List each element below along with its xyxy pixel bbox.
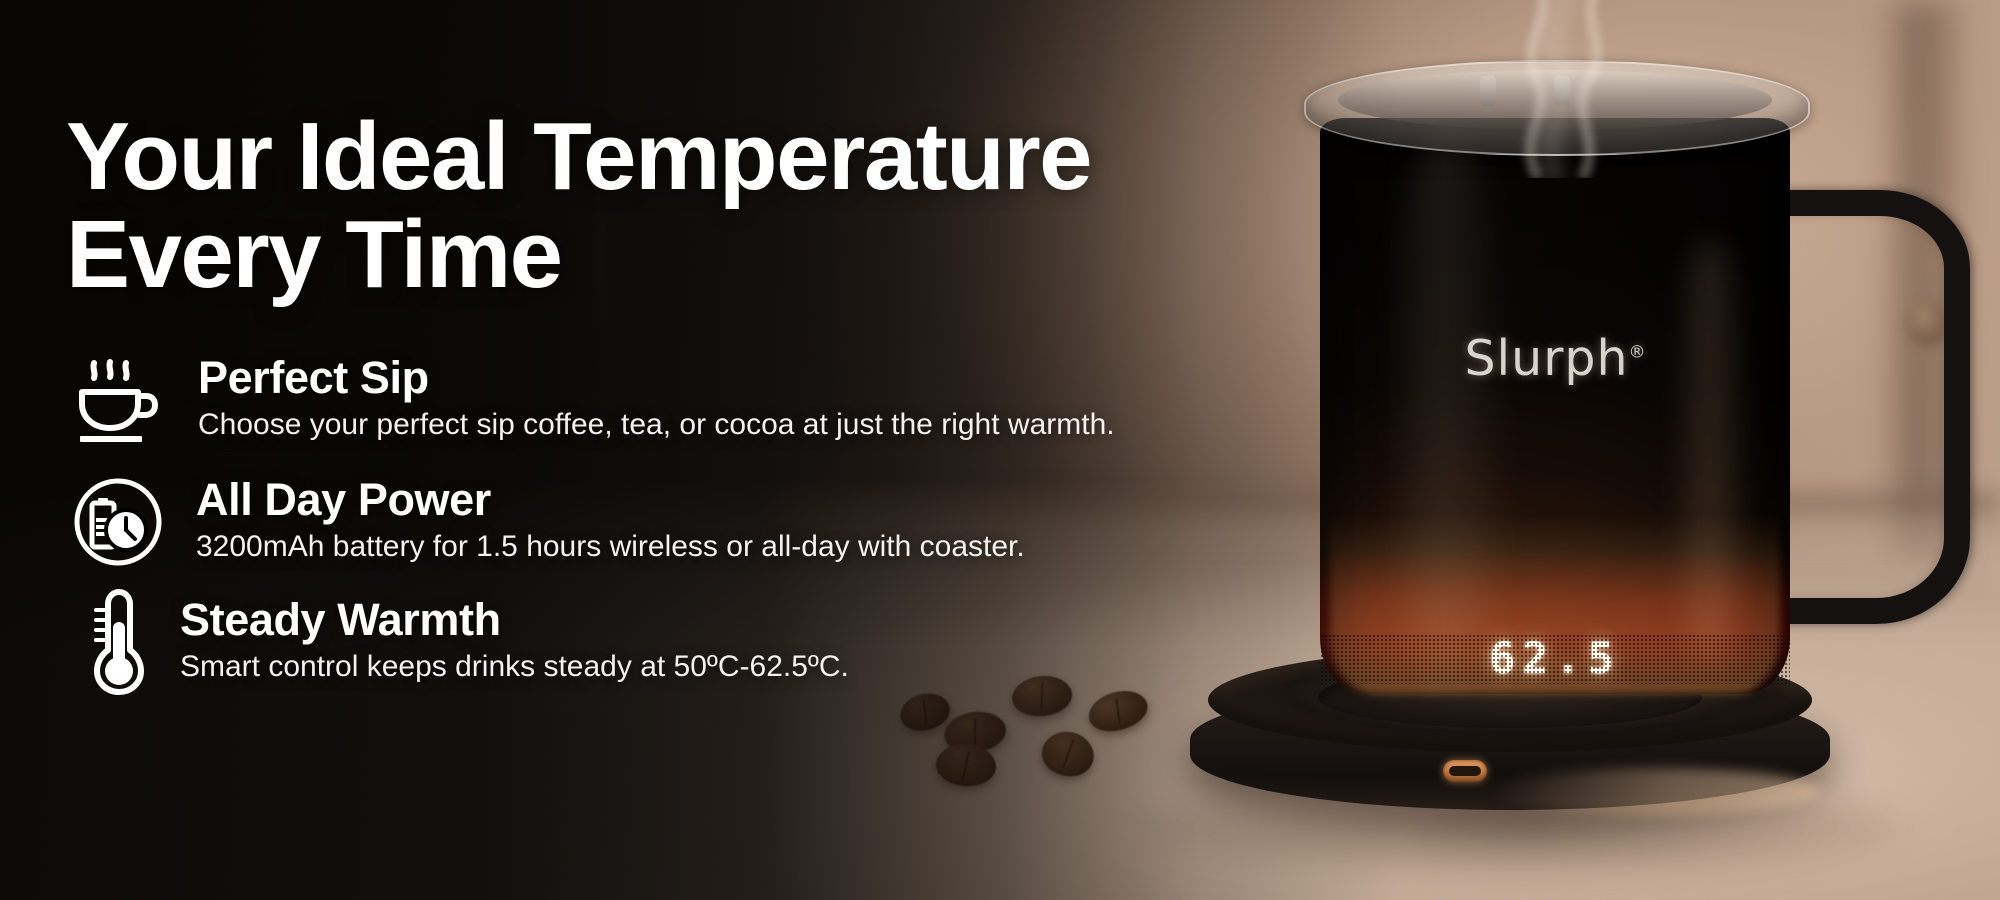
page-title: Your Ideal Temperature Every Time <box>66 108 1246 304</box>
feature-title: Steady Warmth <box>180 596 849 643</box>
feature-list: Perfect Sip Choose your perfect sip coff… <box>66 348 1246 694</box>
feature-description: 3200mAh battery for 1.5 hours wireless o… <box>196 529 1025 565</box>
list-item: All Day Power 3200mAh battery for 1.5 ho… <box>66 470 1246 574</box>
steaming-coffee-cup-icon <box>66 348 170 452</box>
product-hero-banner: Slurph® 62.5 Your Ideal Temperature <box>0 0 2000 900</box>
feature-title: Perfect Sip <box>198 354 1115 401</box>
list-item: Perfect Sip Choose your perfect sip coff… <box>66 348 1246 452</box>
feature-description: Choose your perfect sip coffee, tea, or … <box>198 407 1115 443</box>
feature-description: Smart control keeps drinks steady at 50º… <box>180 649 849 685</box>
feature-title: All Day Power <box>196 476 1025 523</box>
list-item: Steady Warmth Smart control keeps drinks… <box>66 590 1246 694</box>
marketing-copy: Your Ideal Temperature Every Time <box>66 108 1246 694</box>
thermometer-icon <box>66 590 170 694</box>
feature-text: Perfect Sip Choose your perfect sip coff… <box>180 348 1115 443</box>
battery-clock-icon <box>66 470 170 574</box>
feature-text: All Day Power 3200mAh battery for 1.5 ho… <box>180 470 1025 565</box>
feature-text: Steady Warmth Smart control keeps drinks… <box>180 590 849 685</box>
